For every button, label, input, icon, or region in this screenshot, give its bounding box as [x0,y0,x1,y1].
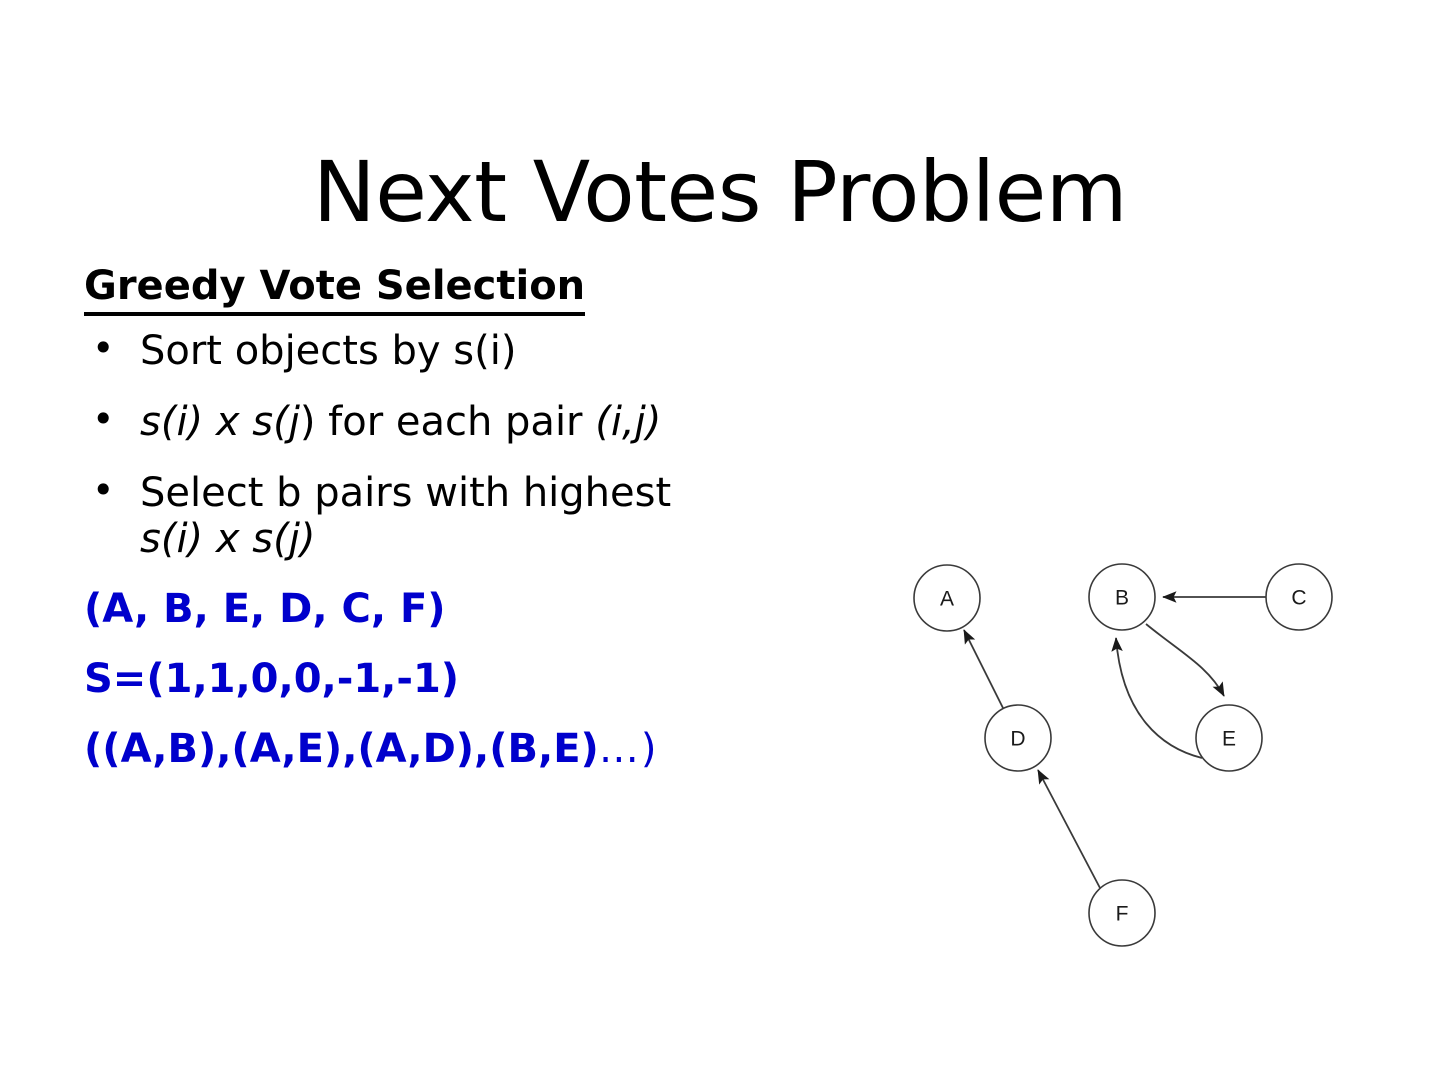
edge-B-to-E [1146,624,1224,696]
graph-node-C[interactable]: C [1266,564,1332,630]
node-label: F [1116,903,1129,926]
bullet-text-italic: s(i) x s(j [140,399,300,445]
section-heading: Greedy Vote Selection [84,266,724,306]
bullet-text-normal: Sort objects by s(i) [140,328,516,374]
graph-node-E[interactable]: E [1196,705,1262,771]
edge-D-to-A [964,630,1003,708]
edge-F-to-D [1038,770,1100,888]
edge-E-to-B [1116,638,1202,758]
emphasis-line-objects: (A, B, E, D, C, F) [84,589,724,629]
graph-node-A[interactable]: A [914,565,980,631]
bullet-text-italic: s(i) x s(j) [140,516,315,562]
bullet-text-normal: ) for each pair [300,399,595,445]
node-label: E [1222,728,1236,751]
emphasis-text: (A, B, E, D, C, F) [84,586,446,632]
node-label: C [1291,587,1306,610]
emphasis-block: (A, B, E, D, C, F) S=(1,1,0,0,-1,-1) ((A… [84,589,724,769]
bullet-text-italic: (i,j) [595,399,661,445]
page-title: Next Votes Problem [0,148,1440,236]
vote-graph-figure: A B C D E F [860,520,1380,980]
node-label: A [940,588,954,611]
vote-graph-svg: A B C D E F [860,520,1380,980]
emphasis-ellipsis: …) [599,726,659,772]
section-heading-text: Greedy Vote Selection [84,263,585,316]
emphasis-text: S=(1,1,0,0,-1,-1) [84,656,459,702]
emphasis-text: ((A,B),(A,E),(A,D),(B,E) [84,726,599,772]
emphasis-line-scores: S=(1,1,0,0,-1,-1) [84,659,724,699]
list-item: s(i) x s(j) for each pair (i,j) [84,399,724,446]
list-item: Sort objects by s(i) [84,328,724,375]
slide-canvas: Next Votes Problem Greedy Vote Selection… [0,0,1440,1080]
list-item: Select b pairs with highest s(i) x s(j) [84,470,724,564]
graph-node-F[interactable]: F [1089,880,1155,946]
graph-node-B[interactable]: B [1089,564,1155,630]
bullet-list: Sort objects by s(i) s(i) x s(j) for eac… [84,328,724,563]
node-label: B [1115,587,1129,610]
emphasis-line-pairs: ((A,B),(A,E),(A,D),(B,E)…) [84,729,724,769]
bullet-text-normal: Select b pairs with highest [140,470,671,516]
node-label: D [1010,728,1025,751]
graph-node-D[interactable]: D [985,705,1051,771]
content-column: Greedy Vote Selection Sort objects by s(… [84,266,724,799]
